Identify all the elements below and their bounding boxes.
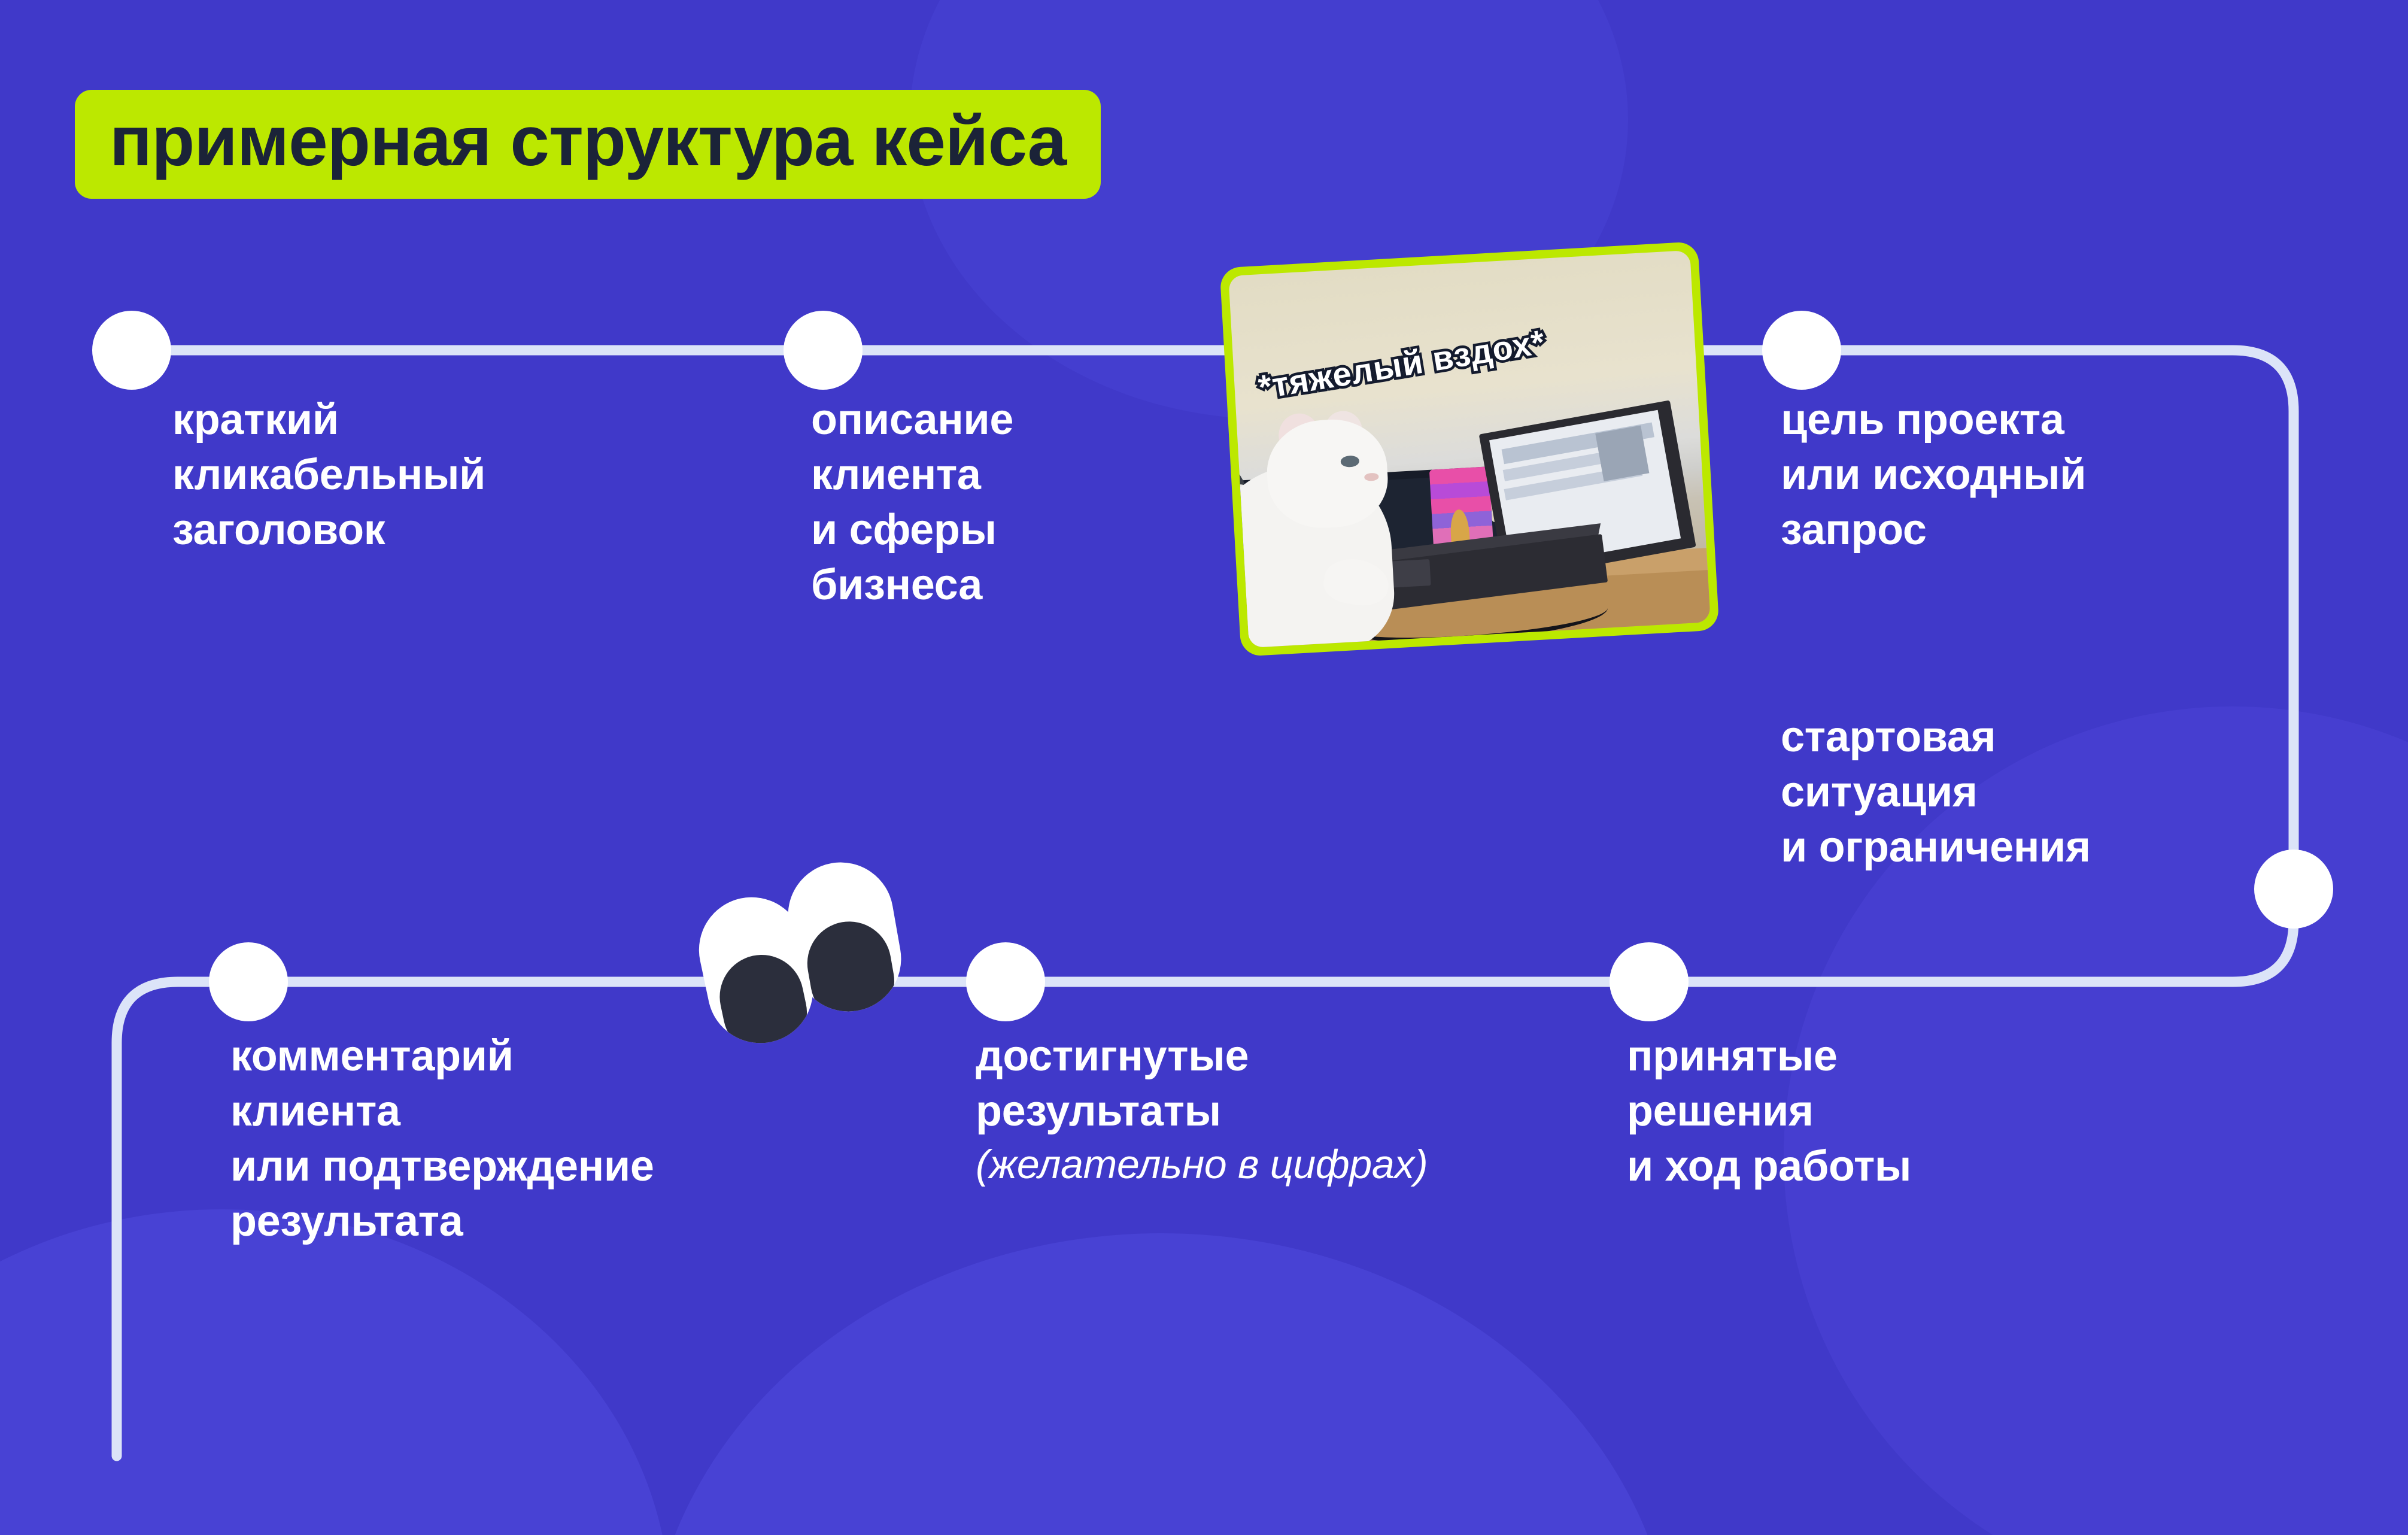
- step-line: кликабельный: [172, 447, 485, 502]
- capsule-fill: [800, 915, 901, 1020]
- step-line: заголовок: [172, 502, 485, 557]
- step-line: и сферы: [811, 502, 1013, 557]
- node-dot-5: [209, 942, 288, 1021]
- page-title: примерная структура кейса: [110, 105, 1066, 177]
- step-item-opisanie-klienta: описание клиента и сферы бизнеса: [811, 392, 1013, 613]
- slide-title-chip: примерная структура кейса: [75, 90, 1101, 199]
- node-dot-2: [784, 311, 863, 390]
- step-line: бизнеса: [811, 557, 1013, 612]
- step-line: ситуация: [1781, 765, 2091, 820]
- slide-canvas: примерная структура кейса краткий кликаб…: [0, 0, 2408, 1535]
- node-dot-6: [966, 942, 1045, 1021]
- capsule-sticker: [703, 862, 919, 1036]
- cat-laptop-photo: *тяжелый вздох*: [1228, 250, 1711, 648]
- step-line: краткий: [172, 392, 485, 447]
- step-line: результата: [230, 1194, 654, 1249]
- node-dot-4: [2254, 850, 2333, 929]
- step-line: или подтверждение: [230, 1139, 654, 1194]
- step-line: стартовая: [1781, 709, 2091, 765]
- step-item-kommentariy-klienta: комментарий клиента или подтверждение ре…: [230, 1029, 654, 1249]
- step-item-kratkiy-zagolovok: краткий кликабельный заголовок: [172, 392, 485, 557]
- meme-photo-card: *тяжелый вздох*: [1219, 241, 1719, 657]
- meme-caption: *тяжелый вздох*: [1255, 321, 1547, 406]
- step-line: комментарий: [230, 1029, 654, 1084]
- node-dot-3: [1762, 311, 1841, 390]
- step-line: запрос: [1781, 502, 2086, 557]
- step-line: решения: [1627, 1084, 1911, 1139]
- screen-thumbnail: [1595, 426, 1649, 481]
- step-line: описание: [811, 392, 1013, 447]
- step-item-prinyatye-resheniya: принятые решения и ход работы: [1627, 1029, 1911, 1194]
- step-line: результаты: [976, 1084, 1428, 1139]
- step-line: и ограничения: [1781, 820, 2091, 875]
- step-note: (желательно в цифрах): [976, 1139, 1428, 1191]
- node-dot-7: [1610, 942, 1689, 1021]
- node-dot-1: [92, 311, 171, 390]
- step-item-cel-proekta: цель проекта или исходный запрос: [1781, 392, 2086, 557]
- step-line: достигнутые: [976, 1029, 1428, 1084]
- step-item-dostignutye-rezultaty: достигнутые результаты (желательно в циф…: [976, 1029, 1428, 1191]
- step-line: или исходный: [1781, 447, 2086, 502]
- step-line: и ход работы: [1627, 1139, 1911, 1194]
- step-line: цель проекта: [1781, 392, 2086, 447]
- step-line: клиента: [230, 1084, 654, 1139]
- step-item-startovaya-situaciya: стартовая ситуация и ограничения: [1781, 709, 2091, 875]
- step-line: клиента: [811, 447, 1013, 502]
- step-line: принятые: [1627, 1029, 1911, 1084]
